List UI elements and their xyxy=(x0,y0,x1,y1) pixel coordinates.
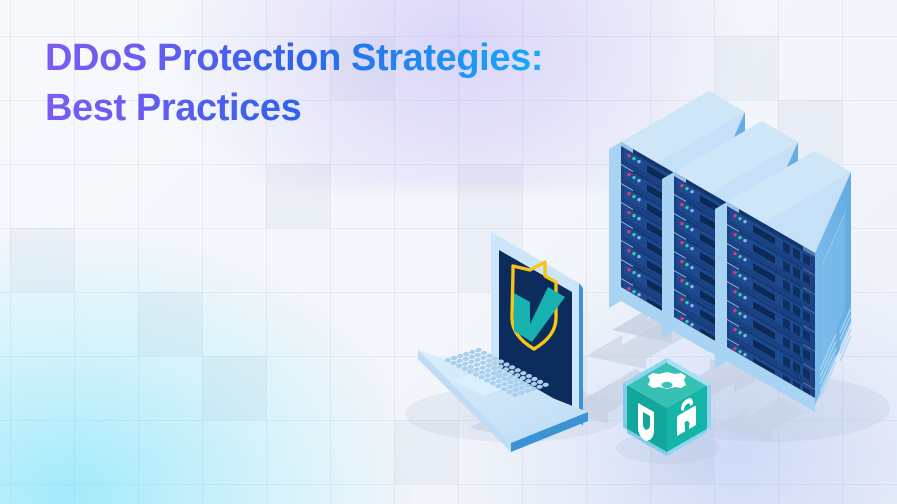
led-green xyxy=(685,187,688,190)
led-green xyxy=(632,271,635,274)
led-green xyxy=(632,290,635,293)
led-green xyxy=(738,255,741,258)
ddos-protection-banner: DDoS Protection Strategies: Best Practic… xyxy=(0,0,897,504)
led-green xyxy=(685,301,688,304)
led-green xyxy=(738,350,741,353)
keyboard-key xyxy=(451,356,458,361)
led-red xyxy=(627,249,630,252)
led-green xyxy=(685,263,688,266)
led-green xyxy=(632,195,635,198)
led-green xyxy=(632,252,635,255)
led-green xyxy=(685,244,688,247)
led-red xyxy=(627,154,630,157)
led-green xyxy=(632,157,635,160)
isometric-illustration xyxy=(0,0,897,504)
led-green xyxy=(632,176,635,179)
led-red xyxy=(680,298,683,301)
led-green xyxy=(738,274,741,277)
led-green xyxy=(685,282,688,285)
led-red xyxy=(680,222,683,225)
led-red xyxy=(733,214,736,217)
keyboard-key xyxy=(469,354,476,359)
gear-icon xyxy=(648,372,686,389)
led-green xyxy=(685,320,688,323)
led-red xyxy=(733,347,736,350)
led-green xyxy=(632,233,635,236)
led-red xyxy=(733,252,736,255)
led-green xyxy=(685,225,688,228)
keyboard-key xyxy=(480,355,487,360)
led-red xyxy=(627,192,630,195)
led-red xyxy=(680,260,683,263)
keyboard-key xyxy=(479,365,486,370)
keyboard-key xyxy=(456,358,463,363)
led-red xyxy=(627,211,630,214)
led-green xyxy=(738,331,741,334)
led-red xyxy=(733,309,736,312)
led-red xyxy=(627,268,630,271)
led-green xyxy=(738,217,741,220)
led-red xyxy=(627,306,630,309)
keyboard-key xyxy=(474,362,481,367)
led-red xyxy=(680,279,683,282)
led-red xyxy=(627,230,630,233)
keyboard-key xyxy=(463,352,470,357)
keyboard-key xyxy=(475,352,482,357)
keyboard-key xyxy=(481,350,488,355)
led-red xyxy=(680,203,683,206)
led-red xyxy=(733,328,736,331)
led-green xyxy=(738,293,741,296)
led-red xyxy=(680,317,683,320)
keyboard-key xyxy=(462,356,469,361)
led-red xyxy=(733,271,736,274)
keyboard-key xyxy=(480,360,487,365)
keyboard-key xyxy=(468,359,475,364)
led-red xyxy=(627,173,630,176)
led-red xyxy=(680,184,683,187)
keyboard-key xyxy=(475,348,482,353)
led-green xyxy=(738,312,741,315)
keyboard-key xyxy=(469,350,476,355)
led-green xyxy=(738,236,741,239)
led-red xyxy=(733,290,736,293)
keyboard-key xyxy=(474,357,481,362)
led-red xyxy=(733,233,736,236)
led-red xyxy=(680,241,683,244)
led-green xyxy=(685,206,688,209)
led-green xyxy=(632,309,635,312)
led-red xyxy=(627,287,630,290)
keyboard-key xyxy=(457,354,464,359)
led-green xyxy=(632,214,635,217)
